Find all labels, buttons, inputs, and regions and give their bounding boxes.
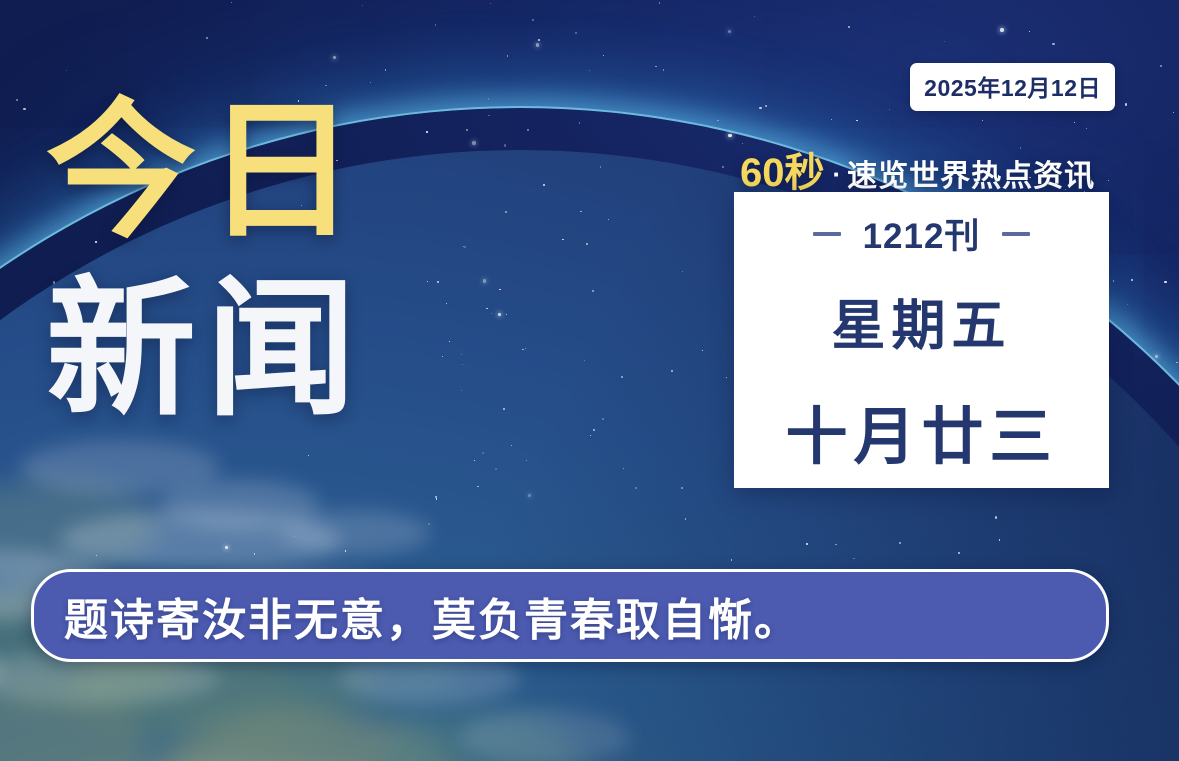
date-badge: 2025年12月12日 — [910, 63, 1115, 111]
tagline: 60秒 · 速览世界热点资讯 — [740, 140, 1095, 198]
weekday: 星期五 — [832, 281, 1012, 360]
issue-dash-left-icon — [813, 232, 841, 236]
news-poster: 2025年12月12日 今日 新闻 60秒 · 速览世界热点资讯 1212刊 星… — [0, 0, 1179, 761]
tagline-text: 速览世界热点资讯 — [847, 151, 1095, 195]
issue-number: 1212刊 — [863, 208, 981, 259]
tagline-separator: · — [833, 159, 842, 190]
lunar-date: 十月廿三 — [785, 386, 1057, 476]
title-line-news: 新闻 — [46, 274, 366, 424]
issue-row: 1212刊 — [813, 208, 1031, 259]
info-card: 1212刊 星期五 十月廿三 — [734, 192, 1109, 488]
tagline-seconds: 60秒 — [740, 140, 825, 198]
page-title: 今日 新闻 — [46, 96, 366, 424]
title-line-today: 今日 — [46, 96, 366, 246]
quote-banner: 题诗寄汝非无意，莫负青春取自惭。 — [31, 569, 1109, 662]
issue-dash-right-icon — [1002, 232, 1030, 236]
quote-text: 题诗寄汝非无意，莫负青春取自惭。 — [64, 584, 800, 648]
